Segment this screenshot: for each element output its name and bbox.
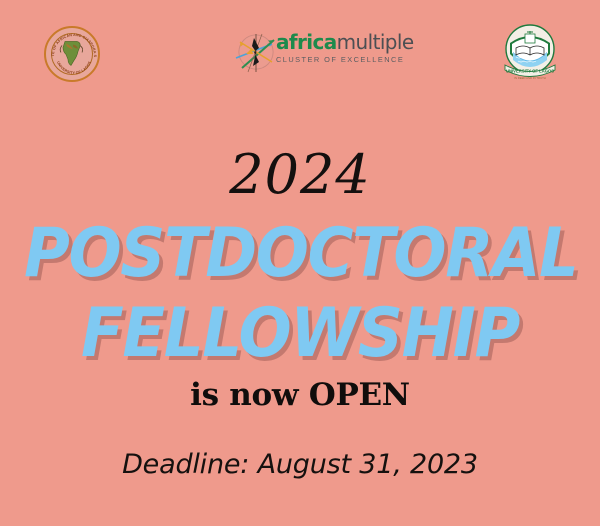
poster-canvas: INSTITUTE OF AFRICAN AND DIASPORA STUDIE… [0, 0, 600, 526]
logo-row: INSTITUTE OF AFRICAN AND DIASPORA STUDIE… [0, 0, 600, 100]
headline-line-fellowship: FELLOWSHIP [24, 296, 576, 372]
africa-word: africa [276, 30, 337, 54]
cluster-of-excellence-tagline: CLUSTER OF EXCELLENCE [276, 55, 414, 64]
africa-multiple-wordmark: africamultiple CLUSTER OF EXCELLENCE [276, 32, 414, 64]
africa-multiple-compass-icon [232, 28, 280, 76]
status-line: is now OPEN [0, 378, 600, 412]
university-of-lagos-crest-icon: UNIVERSITY OF LAGOS IN DEED AND IN TRUTH [500, 22, 560, 84]
multiple-word: multiple [337, 30, 414, 54]
crest-banner-text: UNIVERSITY OF LAGOS [506, 69, 554, 74]
headline-line-postdoctoral: POSTDOCTORAL [24, 216, 576, 292]
deadline-text: Deadline: August 31, 2023 [0, 450, 600, 480]
crest-motto-text: IN DEED AND IN TRUTH [514, 76, 546, 80]
year-heading: 2024 [0, 148, 600, 202]
institute-of-african-and-diaspora-studies-seal-icon: INSTITUTE OF AFRICAN AND DIASPORA STUDIE… [44, 26, 100, 82]
africa-map-icon [59, 39, 85, 67]
africa-multiple-logo: africamultiple CLUSTER OF EXCELLENCE [232, 26, 402, 78]
africa-multiple-title: africamultiple [276, 32, 414, 52]
